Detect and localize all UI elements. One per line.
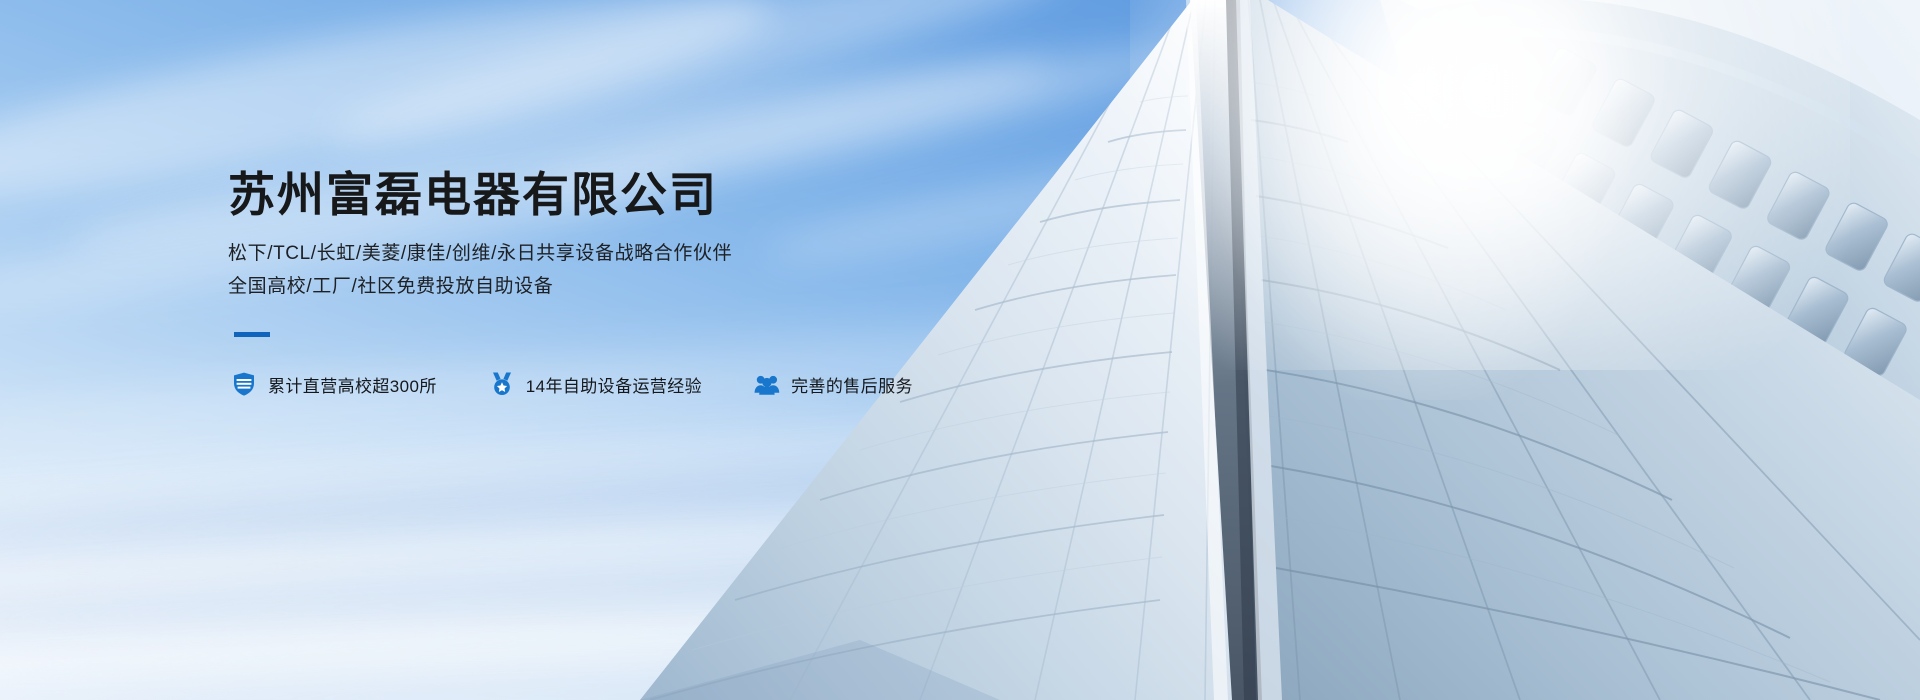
company-title: 苏州富磊电器有限公司: [228, 168, 1048, 223]
subtitle-line-2: 全国高校/工厂/社区免费投放自助设备: [228, 270, 1048, 304]
subtitle-line-1: 松下/TCL/长虹/美菱/康佳/创维/永日共享设备战略合作伙伴: [228, 237, 1048, 271]
feature-item: 完善的售后服务: [754, 371, 913, 397]
medal-icon: [489, 371, 515, 397]
banner-content: 苏州富磊电器有限公司 松下/TCL/长虹/美菱/康佳/创维/永日共享设备战略合作…: [228, 168, 1048, 397]
feature-label: 累计直营高校超300所: [268, 372, 437, 397]
feature-label: 完善的售后服务: [791, 372, 913, 397]
users-icon: [754, 371, 780, 397]
shield-icon: [231, 371, 257, 397]
feature-item: 14年自助设备运营经验: [489, 371, 702, 397]
feature-list: 累计直营高校超300所 14年自助设备运营经验: [228, 371, 1048, 397]
accent-divider: [234, 332, 270, 337]
feature-item: 累计直营高校超300所: [231, 371, 437, 397]
hero-banner: 苏州富磊电器有限公司 松下/TCL/长虹/美菱/康佳/创维/永日共享设备战略合作…: [0, 0, 1920, 700]
feature-label: 14年自助设备运营经验: [526, 372, 702, 397]
